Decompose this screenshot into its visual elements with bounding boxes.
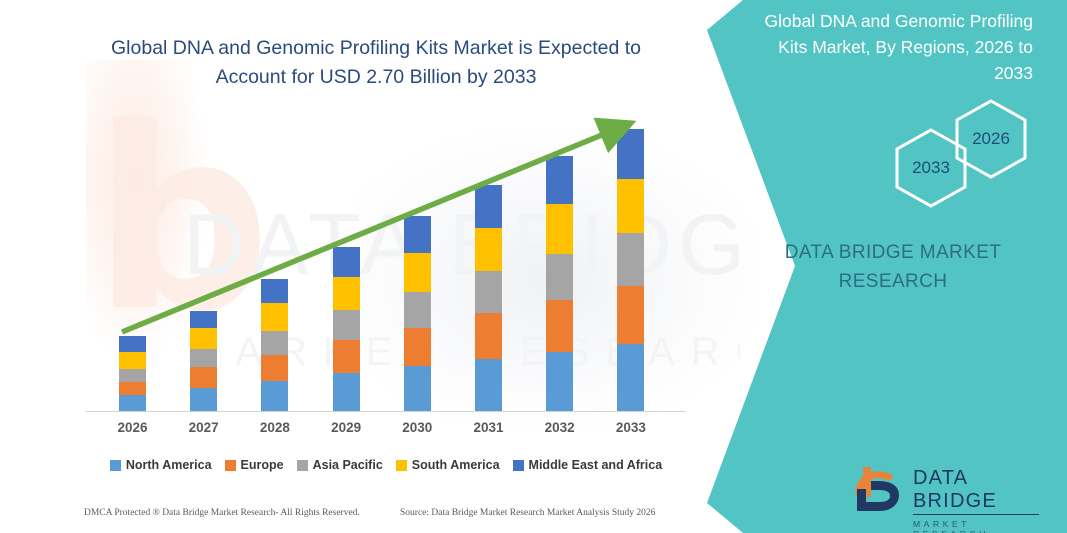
bar-2031 bbox=[475, 185, 502, 411]
bar-segment-europe bbox=[475, 313, 502, 359]
bar-segment-north-america bbox=[190, 388, 217, 411]
bar-segment-asia-pacific bbox=[404, 292, 431, 328]
bridge-logo-icon bbox=[849, 463, 909, 515]
bar-segment-south-america bbox=[119, 352, 146, 369]
bar-segment-north-america bbox=[617, 344, 644, 411]
bar-segment-europe bbox=[333, 340, 360, 373]
bar-segment-south-america bbox=[475, 228, 502, 272]
legend-item-south-america[interactable]: South America bbox=[396, 458, 500, 472]
bar-segment-asia-pacific bbox=[475, 271, 502, 313]
legend-swatch-icon bbox=[396, 460, 407, 471]
bar-2030 bbox=[404, 216, 431, 411]
bar-segment-south-america bbox=[190, 328, 217, 349]
bar-segment-north-america bbox=[119, 395, 146, 411]
bar-segment-europe bbox=[261, 355, 288, 381]
legend-item-middle-east-and-africa[interactable]: Middle East and Africa bbox=[513, 458, 663, 472]
x-axis-label-2032: 2032 bbox=[530, 420, 590, 435]
chart-baseline-axis bbox=[86, 411, 686, 412]
legend-item-europe[interactable]: Europe bbox=[225, 458, 284, 472]
legend-swatch-icon bbox=[297, 460, 308, 471]
bar-segment-middle-east-and-africa bbox=[617, 129, 644, 179]
bar-segment-middle-east-and-africa bbox=[404, 216, 431, 253]
infographic-root: b DATA BRIDGE MARKET RESEARCH Global DNA… bbox=[0, 0, 1067, 533]
bar-2027 bbox=[190, 311, 217, 411]
bar-2028 bbox=[261, 279, 288, 411]
x-axis-label-2027: 2027 bbox=[174, 420, 234, 435]
chart-x-axis-labels: 20262027202820292030203120322033 bbox=[86, 420, 686, 444]
bar-segment-europe bbox=[404, 328, 431, 367]
bar-segment-north-america bbox=[546, 352, 573, 411]
bar-segment-asia-pacific bbox=[190, 349, 217, 367]
x-axis-label-2028: 2028 bbox=[245, 420, 305, 435]
bar-2032 bbox=[546, 156, 573, 411]
panel-title: Global DNA and Genomic Profiling Kits Ma… bbox=[743, 8, 1033, 86]
bar-segment-north-america bbox=[404, 366, 431, 411]
x-axis-label-2033: 2033 bbox=[601, 420, 661, 435]
footer-copyright: DMCA Protected ® Data Bridge Market Rese… bbox=[84, 508, 360, 518]
brand-logo-tagline: MARKET RESEARCH bbox=[913, 519, 1039, 533]
bar-2029 bbox=[333, 247, 360, 411]
stacked-bar-chart bbox=[86, 120, 686, 412]
hexagon-group: 2026 2033 bbox=[833, 95, 1033, 210]
hexagon-2033-label: 2033 bbox=[895, 128, 967, 208]
bar-segment-asia-pacific bbox=[546, 254, 573, 301]
x-axis-label-2030: 2030 bbox=[387, 420, 447, 435]
bar-segment-asia-pacific bbox=[333, 310, 360, 340]
bar-segment-middle-east-and-africa bbox=[190, 311, 217, 327]
legend-item-asia-pacific[interactable]: Asia Pacific bbox=[297, 458, 383, 472]
legend-swatch-icon bbox=[513, 460, 524, 471]
page-title: Global DNA and Genomic Profiling Kits Ma… bbox=[96, 34, 656, 92]
x-axis-label-2029: 2029 bbox=[316, 420, 376, 435]
bar-segment-asia-pacific bbox=[261, 331, 288, 355]
legend-swatch-icon bbox=[225, 460, 236, 471]
bar-segment-north-america bbox=[475, 359, 502, 411]
bar-segment-north-america bbox=[333, 373, 360, 411]
bar-segment-asia-pacific bbox=[617, 233, 644, 286]
brand-logo-name: DATA BRIDGE bbox=[913, 467, 1039, 515]
legend-swatch-icon bbox=[110, 460, 121, 471]
bar-segment-south-america bbox=[404, 253, 431, 292]
bar-segment-south-america bbox=[546, 204, 573, 253]
bar-segment-middle-east-and-africa bbox=[333, 247, 360, 277]
bar-segment-middle-east-and-africa bbox=[119, 336, 146, 352]
hexagon-2033: 2033 bbox=[895, 128, 967, 208]
bar-segment-europe bbox=[190, 367, 217, 387]
bar-2033 bbox=[617, 129, 644, 411]
legend-label: South America bbox=[412, 458, 500, 472]
bar-2026 bbox=[119, 336, 146, 411]
footer: DMCA Protected ® Data Bridge Market Rese… bbox=[0, 505, 720, 527]
panel-brand: DATA BRIDGE MARKET RESEARCH bbox=[753, 238, 1033, 296]
bar-segment-europe bbox=[617, 286, 644, 344]
bar-segment-europe bbox=[119, 382, 146, 396]
bar-segment-south-america bbox=[617, 179, 644, 232]
legend-label: Middle East and Africa bbox=[529, 458, 663, 472]
brand-logo: DATA BRIDGE MARKET RESEARCH bbox=[849, 463, 1039, 515]
bar-segment-middle-east-and-africa bbox=[475, 185, 502, 228]
brand-logo-text: DATA BRIDGE MARKET RESEARCH bbox=[913, 467, 1039, 533]
right-panel-content: Global DNA and Genomic Profiling Kits Ma… bbox=[707, 0, 1067, 533]
legend-label: Asia Pacific bbox=[313, 458, 383, 472]
x-axis-label-2026: 2026 bbox=[103, 420, 163, 435]
chart-legend: North AmericaEuropeAsia PacificSouth Ame… bbox=[86, 455, 686, 475]
bar-segment-asia-pacific bbox=[119, 369, 146, 382]
legend-item-north-america[interactable]: North America bbox=[110, 458, 212, 472]
bar-segment-south-america bbox=[333, 277, 360, 310]
bar-segment-middle-east-and-africa bbox=[261, 279, 288, 303]
bar-segment-north-america bbox=[261, 381, 288, 411]
bar-segment-europe bbox=[546, 300, 573, 351]
bar-segment-middle-east-and-africa bbox=[546, 156, 573, 205]
x-axis-label-2031: 2031 bbox=[459, 420, 519, 435]
legend-label: Europe bbox=[241, 458, 284, 472]
footer-source: Source: Data Bridge Market Research Mark… bbox=[400, 508, 655, 518]
legend-label: North America bbox=[126, 458, 212, 472]
bar-segment-south-america bbox=[261, 303, 288, 330]
